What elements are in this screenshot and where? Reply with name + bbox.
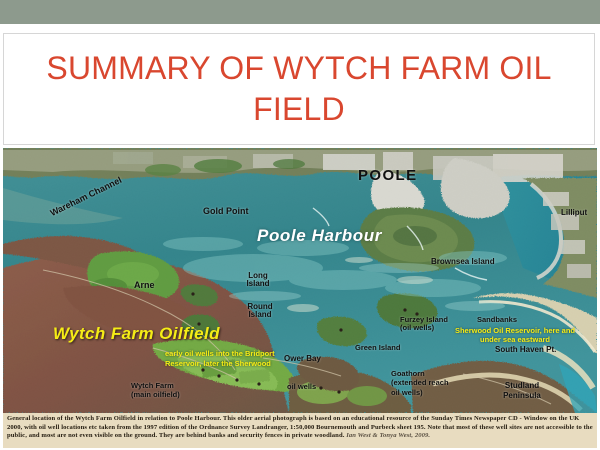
slide-top-band [0,0,600,24]
aerial-photo-graphic [3,148,597,413]
caption-line-1: General location of the Wytch Farm Oilfi… [7,415,411,422]
presentation-slide: SUMMARY OF WYTCH FARM OIL FIELD [0,0,600,450]
caption-credit: Ian West & Tonya West, 2009. [346,432,430,439]
caption-line-4: not even visible on the ground. They are… [68,432,344,439]
aerial-photograph: POOLE Gold Point Wareham Channel Poole H… [3,148,597,413]
page-title: SUMMARY OF WYTCH FARM OIL FIELD [4,48,594,130]
slide-title-box: SUMMARY OF WYTCH FARM OIL FIELD [3,33,595,145]
figure-caption: General location of the Wytch Farm Oilfi… [3,413,597,448]
